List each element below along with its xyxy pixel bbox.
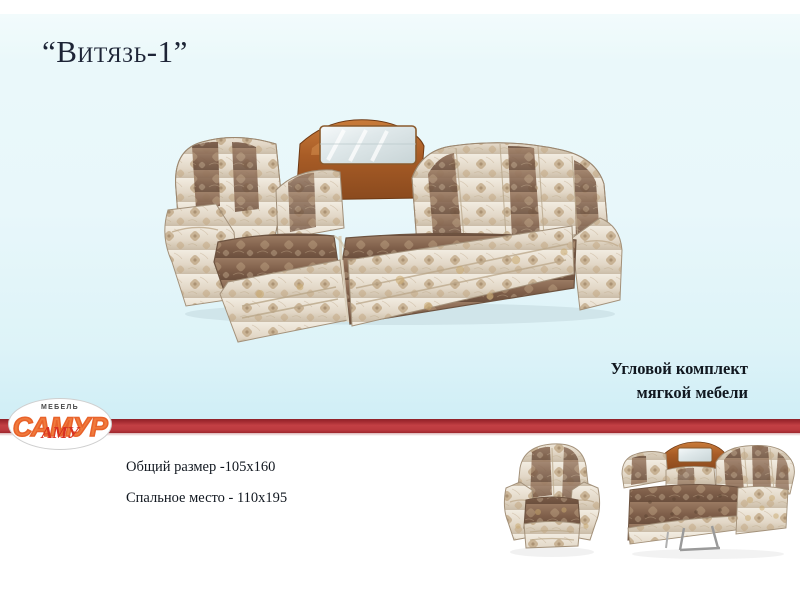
tagline-line-2: мягкой мебели bbox=[448, 381, 748, 405]
logo-top-text: МЕБЕЛЬ bbox=[8, 404, 112, 411]
thumbnail-armchair bbox=[498, 438, 606, 558]
thumbnail-sofa-bed bbox=[620, 436, 795, 560]
brand-logo: МЕБЕЛЬ САМУР АМУ bbox=[8, 398, 112, 450]
spec-sleeping-area: Спальное место - 110х195 bbox=[126, 483, 287, 514]
logo-overlay-text: АМУ bbox=[8, 423, 112, 443]
red-divider-band bbox=[0, 419, 800, 433]
specifications: Общий размер -105х160 Спальное место - 1… bbox=[126, 452, 287, 514]
tagline-line-1: Угловой комплект bbox=[448, 357, 748, 381]
spec-overall-size: Общий размер -105х160 bbox=[126, 452, 287, 483]
main-product-image bbox=[160, 82, 630, 327]
product-tagline: Угловой комплект мягкой мебели bbox=[448, 357, 748, 405]
product-title: “Витязь-1” bbox=[42, 34, 188, 70]
advertisement-poster: “Витязь-1” Угловой комплект мягкой мебел… bbox=[0, 0, 800, 600]
